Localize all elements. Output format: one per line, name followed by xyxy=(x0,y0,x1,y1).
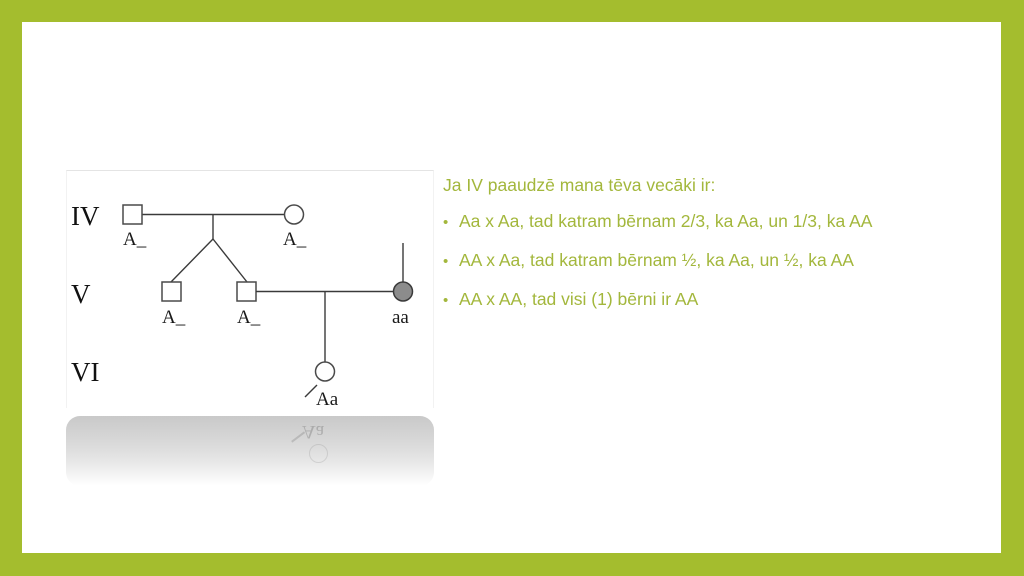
content-text-block: Ja IV paaudzē mana tēva vecāki ir: • Aa … xyxy=(443,174,963,327)
slide: IV V VI A_ A_ A_ A_ xyxy=(0,0,1024,576)
reflection-ghost-circle-icon xyxy=(309,444,328,463)
individual-v-3-female-affected-circle[interactable] xyxy=(394,282,413,301)
bullet-item-3: • AA x AA, tad visi (1) bērni ir AA xyxy=(443,288,963,312)
individual-v-1-male-square[interactable] xyxy=(162,282,181,301)
intro-question-line: Ja IV paaudzē mana tēva vecāki ir: xyxy=(443,174,963,196)
pedigree-figure[interactable]: IV V VI A_ A_ A_ A_ xyxy=(66,170,434,408)
reflection-ghost-text: Aa xyxy=(302,420,324,442)
genotype-label-iv-2: A_ xyxy=(283,229,307,250)
genotype-label-v-1: A_ xyxy=(162,307,186,328)
generation-label-v: V xyxy=(71,279,91,309)
bullet-item-1: • Aa x Aa, tad katram bērnam 2/3, ka Aa,… xyxy=(443,210,963,234)
bullet-dot-icon: • xyxy=(443,212,459,234)
sibship-branch-right xyxy=(213,239,247,282)
bullet-text-2: AA x Aa, tad katram bērnam ½, ka Aa, un … xyxy=(459,249,854,271)
generation-label-iv: IV xyxy=(71,201,100,231)
genotype-label-v-2: A_ xyxy=(237,307,261,328)
bullet-text-3: AA x AA, tad visi (1) bērni ir AA xyxy=(459,288,698,310)
slide-canvas: IV V VI A_ A_ A_ A_ xyxy=(22,22,1001,553)
individual-iv-2-female-circle[interactable] xyxy=(285,205,304,224)
genotype-label-iv-1: A_ xyxy=(123,229,147,250)
generation-label-vi: VI xyxy=(71,357,100,387)
bullet-item-2: • AA x Aa, tad katram bērnam ½, ka Aa, u… xyxy=(443,249,963,273)
bullet-dot-icon: • xyxy=(443,251,459,273)
bullet-dot-icon: • xyxy=(443,290,459,312)
pedigree-diagram: IV V VI A_ A_ A_ A_ xyxy=(67,171,435,409)
genotype-label-vi-1: Aa xyxy=(316,389,339,409)
individual-vi-1-female-circle[interactable] xyxy=(316,362,335,381)
individual-iv-1-male-square[interactable] xyxy=(123,205,142,224)
genotype-label-v-3: aa xyxy=(392,307,409,328)
bullet-text-1: Aa x Aa, tad katram bērnam 2/3, ka Aa, u… xyxy=(459,210,872,232)
sibship-branch-left xyxy=(171,239,213,282)
pedigree-image-reflection: Aa xyxy=(66,416,434,486)
individual-v-2-male-square[interactable] xyxy=(237,282,256,301)
